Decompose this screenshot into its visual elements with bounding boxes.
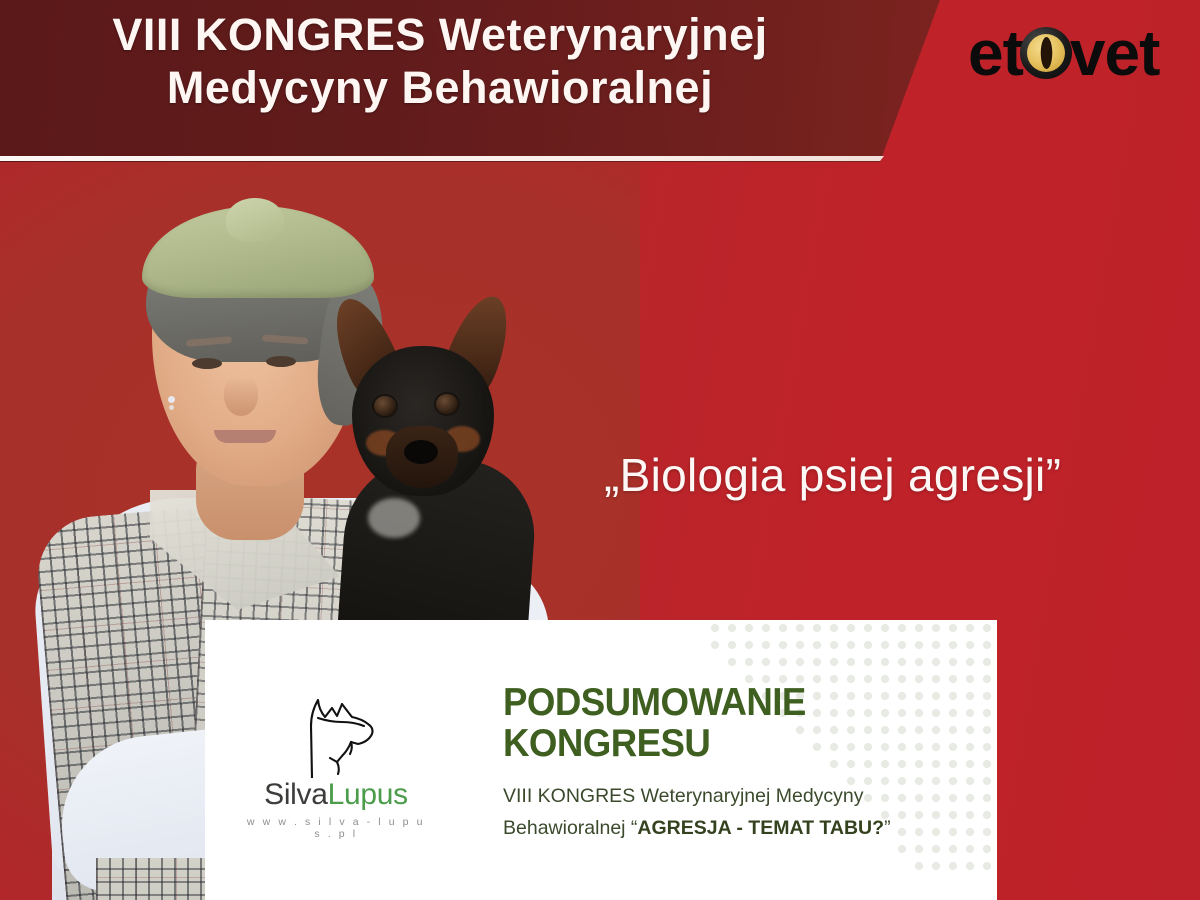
dog-eye-left <box>374 396 396 416</box>
etovet-logo-text-left: et <box>968 21 1023 85</box>
logo-word-lupus: Lupus <box>328 778 408 811</box>
card-subtitle-emphasis: AGRESJA - TEMAT TABU? <box>637 817 884 839</box>
logo-website-url: w w w . s i l v a - l u p u s . p l <box>241 816 431 840</box>
eye-right <box>266 356 296 367</box>
headband-knot <box>226 198 284 242</box>
card-subtitle-quote-close: ” <box>884 817 891 839</box>
cat-eye-icon <box>1020 27 1072 79</box>
summary-card: SilvaLupus w w w . s i l v a - l u p u s… <box>205 620 997 900</box>
lecture-title-quote: „Biologia psiej agresji” <box>604 448 1061 502</box>
wolf-head-icon <box>282 686 390 778</box>
congress-title: VIII KONGRES Weterynaryjnej Medycyny Beh… <box>0 8 880 114</box>
etovet-logo-text-right: vet <box>1070 21 1160 85</box>
mouth <box>214 430 276 443</box>
logo-word-silva: Silva <box>264 778 328 811</box>
silva-lupus-logo[interactable]: SilvaLupus w w w . s i l v a - l u p u s… <box>241 686 431 840</box>
dog-chest-marking <box>368 498 420 538</box>
earring <box>168 396 175 403</box>
eye-left <box>192 358 222 369</box>
card-subtitle: VIII KONGRES Weterynaryjnej Medycyny Beh… <box>503 780 973 844</box>
nose <box>224 376 258 416</box>
dog-eye-right <box>436 394 458 414</box>
silva-lupus-wordmark: SilvaLupus <box>241 780 431 810</box>
dog-nose <box>404 440 438 464</box>
card-heading: PODSUMOWANIE KONGRESU <box>503 682 806 765</box>
banner-underline <box>0 156 884 161</box>
etovet-logo[interactable]: et vet <box>968 14 1159 92</box>
slide-canvas: „Biologia psiej agresji” VIII KONGRES We… <box>0 0 1200 900</box>
